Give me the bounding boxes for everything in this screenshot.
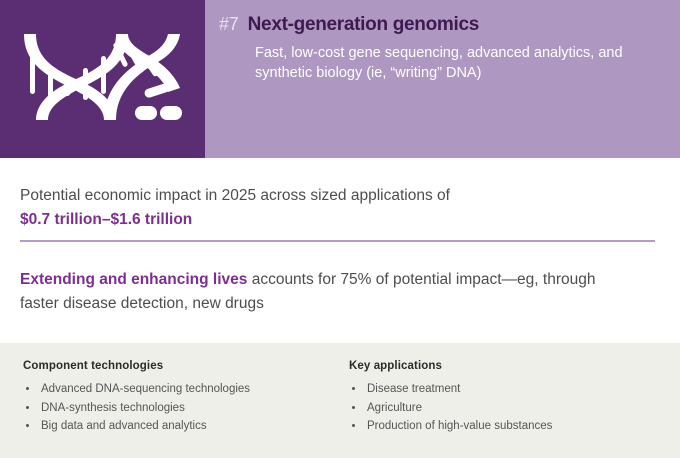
component-technologies-list: Advanced DNA-sequencing technologies DNA… [23,380,340,436]
list-item: DNA-synthesis technologies [23,399,340,418]
card-header: #7 Next-generation genomics Fast, low-co… [0,0,680,158]
list-item: Production of high-value substances [349,417,680,436]
page-title: Next-generation genomics [248,14,479,36]
key-applications-list: Disease treatment Agriculture Production… [349,380,680,436]
section-divider [20,240,655,242]
bullet-icon [26,406,29,409]
list-item: Disease treatment [349,380,680,399]
key-applications-heading: Key applications [349,360,680,372]
bullet-icon [26,424,29,427]
component-technologies-heading: Component technologies [23,360,340,372]
bullet-icon [26,387,29,390]
header-subtitle: Fast, low-cost gene sequencing, advanced… [255,43,660,83]
impact-lead-text: Potential economic impact in 2025 across… [20,187,450,204]
title-row: #7 Next-generation genomics [219,14,660,36]
list-item-label: Advanced DNA-sequencing technologies [41,383,250,395]
dna-helix-icon [18,22,188,130]
impact-detail-lead: Extending and enhancing lives [20,271,247,288]
bullet-icon [352,424,355,427]
rank-number: #7 [219,14,239,35]
lists-panel: Component technologies Advanced DNA-sequ… [0,343,680,458]
list-item: Agriculture [349,399,680,418]
impact-amount: $0.7 trillion–$1.6 trillion [20,208,640,232]
list-item-label: DNA-synthesis technologies [41,402,185,414]
economic-impact-text: Potential economic impact in 2025 across… [20,184,640,232]
list-item-label: Disease treatment [367,383,460,395]
key-applications-column: Key applications Disease treatment Agric… [340,343,680,458]
list-item: Big data and advanced analytics [23,417,340,436]
list-item-label: Production of high-value substances [367,420,552,432]
header-text-block: #7 Next-generation genomics Fast, low-co… [205,0,680,158]
list-item-label: Agriculture [367,402,422,414]
impact-section: Potential economic impact in 2025 across… [0,158,680,343]
icon-block [0,0,205,158]
list-item: Advanced DNA-sequencing technologies [23,380,340,399]
technology-summary-card: #7 Next-generation genomics Fast, low-co… [0,0,680,458]
list-item-label: Big data and advanced analytics [41,420,207,432]
bullet-icon [352,387,355,390]
bullet-icon [352,406,355,409]
impact-detail-text: Extending and enhancing lives accounts f… [20,268,620,316]
component-technologies-column: Component technologies Advanced DNA-sequ… [0,343,340,458]
